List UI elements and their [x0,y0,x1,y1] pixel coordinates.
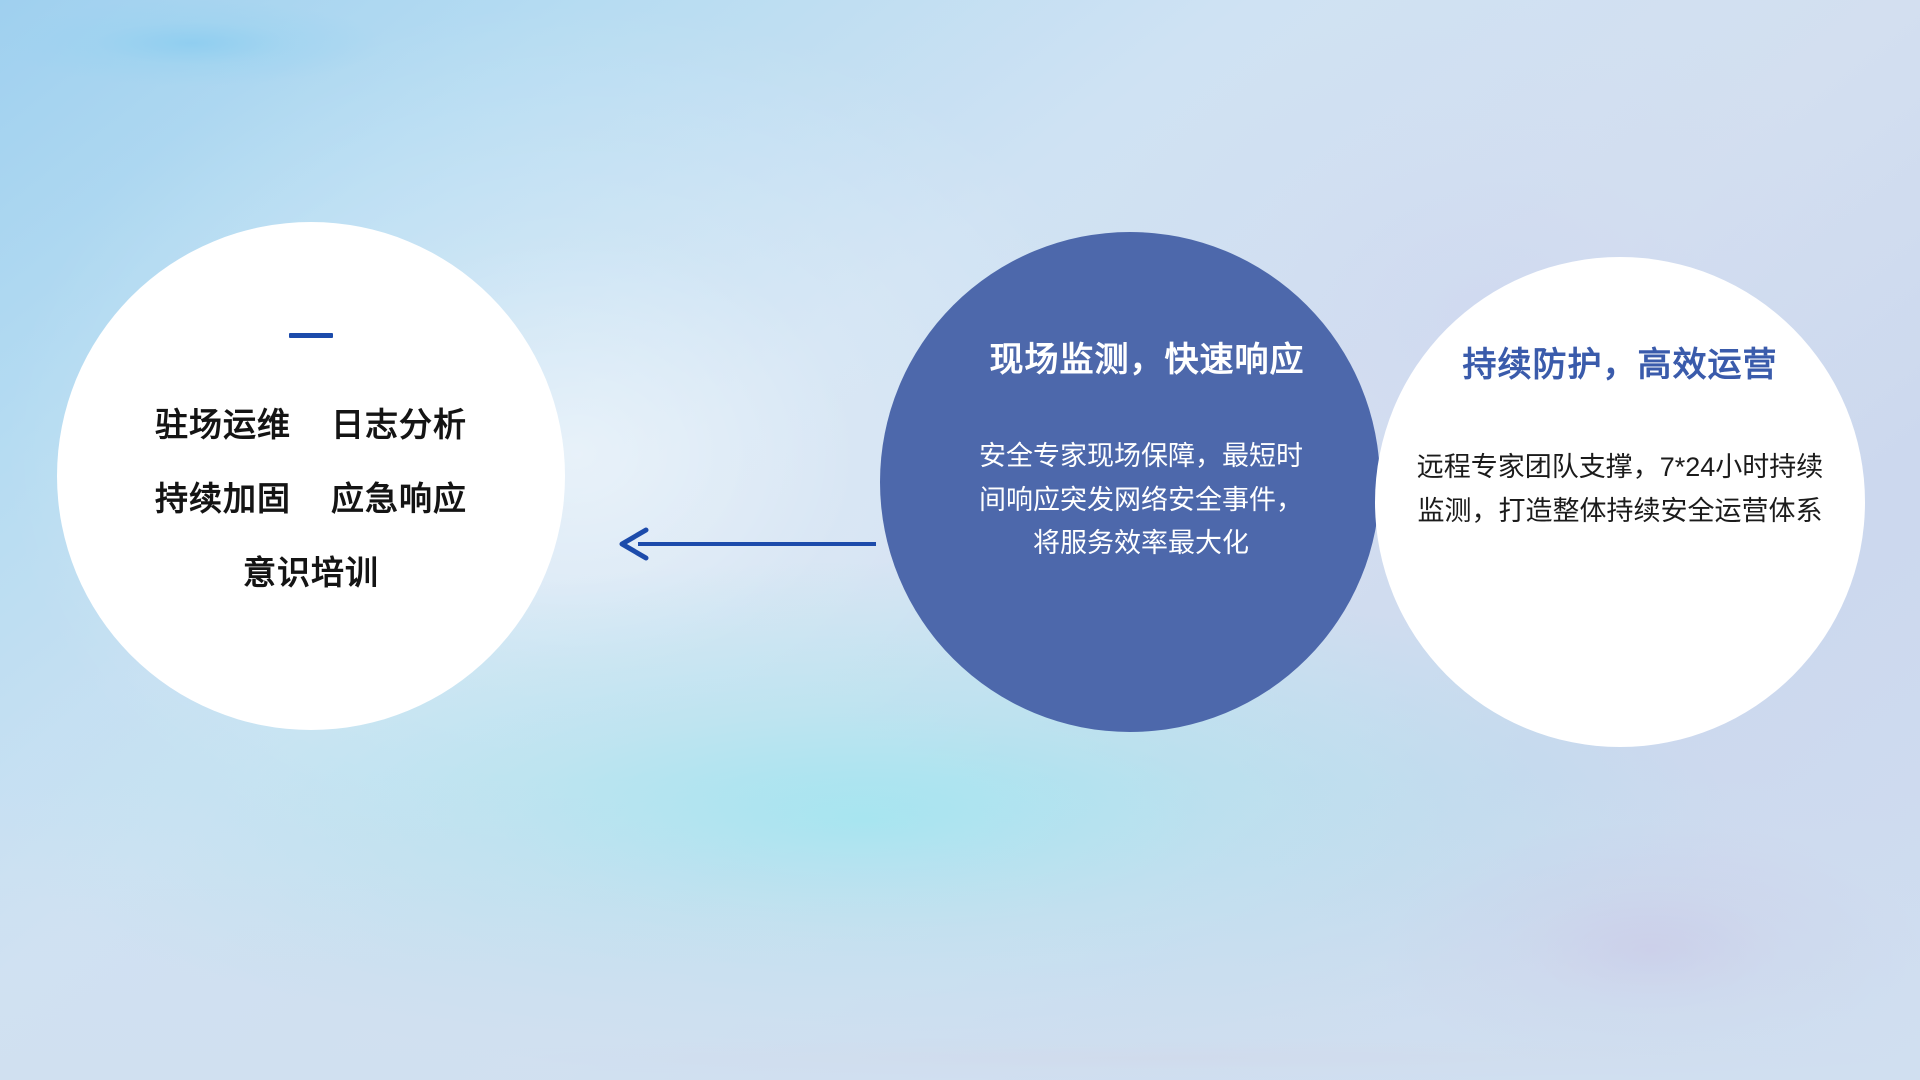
onsite-monitoring-circle: 现场监测，快速响应 安全专家现场保障，最短时间响应突发网络安全事件，将服务效率最… [880,232,1380,732]
continuous-protection-title: 持续防护，高效运营 [1463,337,1778,386]
service-capabilities-content: 驻场运维 日志分析 持续加固 应急响应 意识培训 [57,222,565,730]
capability-tag: 日志分析 [331,398,467,446]
capability-tag: 意识培训 [243,546,379,594]
capability-tag: 应急响应 [331,472,467,520]
continuous-protection-body: 远程专家团队支撑，7*24小时持续监测，打造整体持续安全运营体系 [1410,446,1830,533]
slide-canvas: 现场监测，快速响应 安全专家现场保障，最短时间响应突发网络安全事件，将服务效率最… [0,0,1920,1080]
capability-row: 驻场运维 日志分析 [155,398,467,446]
capability-row: 持续加固 应急响应 [155,472,467,520]
arrow-left-icon [612,526,876,562]
continuous-protection-content: 持续防护，高效运营 远程专家团队支撑，7*24小时持续监测，打造整体持续安全运营… [1375,257,1865,747]
capability-tag: 驻场运维 [155,398,291,446]
service-capabilities-circle: 驻场运维 日志分析 持续加固 应急响应 意识培训 [57,222,565,730]
onsite-monitoring-content: 现场监测，快速响应 安全专家现场保障，最短时间响应突发网络安全事件，将服务效率最… [880,232,1380,732]
onsite-monitoring-body: 安全专家现场保障，最短时间响应突发网络安全事件，将服务效率最大化 [976,435,1306,566]
horizontal-rule-icon [289,333,333,338]
capability-row: 意识培训 [243,546,379,594]
capability-tag: 持续加固 [155,472,291,520]
continuous-protection-circle: 持续防护，高效运营 远程专家团队支撑，7*24小时持续监测，打造整体持续安全运营… [1375,257,1865,747]
onsite-monitoring-title: 现场监测，快速响应 [990,332,1305,381]
